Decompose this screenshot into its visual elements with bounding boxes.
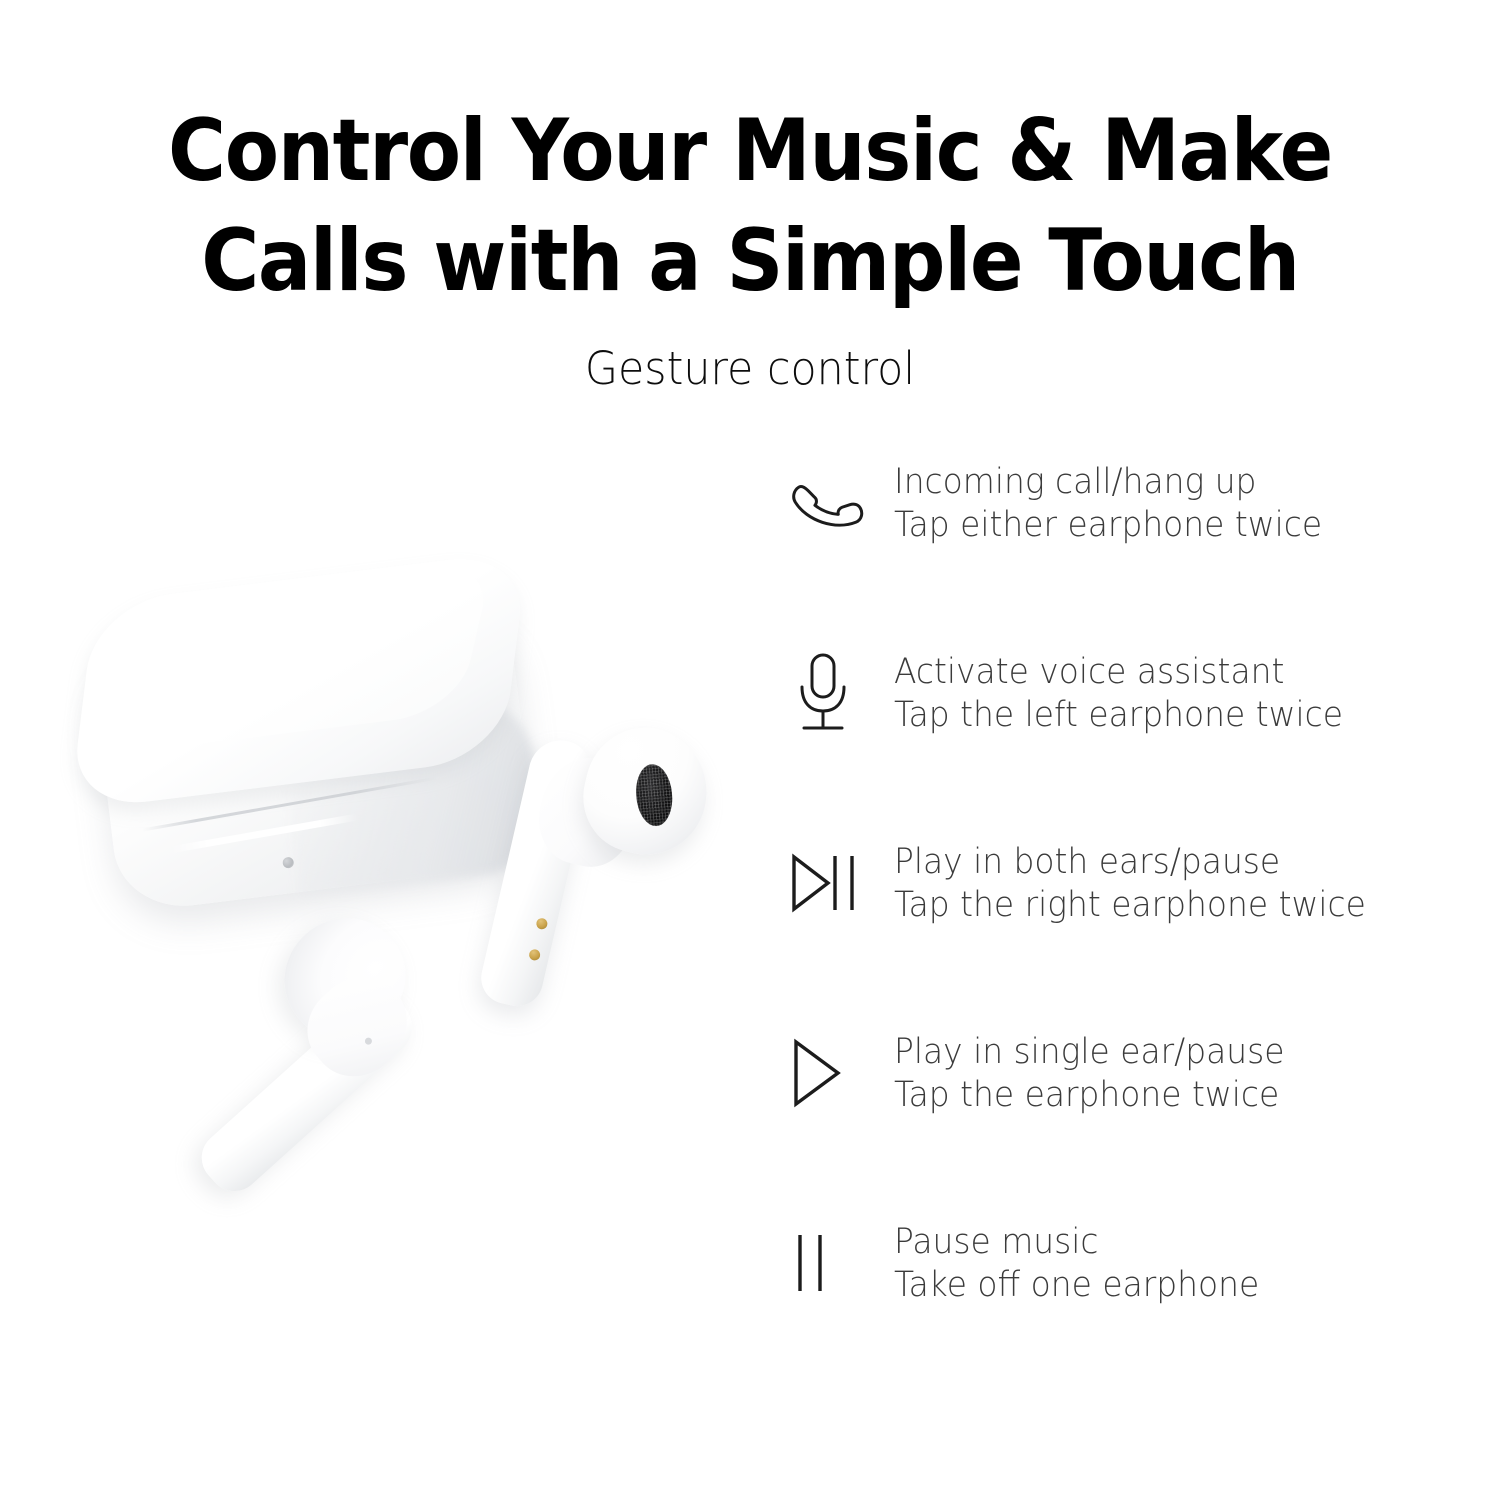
feature-title: Play in single ear/pause bbox=[894, 1031, 1285, 1074]
play-icon bbox=[782, 1025, 894, 1121]
feature-text: Play in both ears/pause Tap the right ea… bbox=[894, 835, 1366, 927]
feature-row: Activate voice assistant Tap the left ea… bbox=[782, 645, 1472, 835]
feature-title: Incoming call/hang up bbox=[894, 461, 1322, 504]
header: Control Your Music & Make Calls with a S… bbox=[0, 96, 1500, 395]
phone-handset-icon bbox=[782, 455, 894, 551]
feature-text: Incoming call/hang up Tap either earphon… bbox=[894, 455, 1322, 547]
microphone-icon bbox=[782, 645, 894, 741]
feature-text: Activate voice assistant Tap the left ea… bbox=[894, 645, 1343, 737]
feature-row: Play in both ears/pause Tap the right ea… bbox=[782, 835, 1472, 1025]
feature-title: Pause music bbox=[894, 1221, 1259, 1264]
page-title: Control Your Music & Make Calls with a S… bbox=[60, 96, 1440, 316]
play-pause-icon bbox=[782, 835, 894, 931]
feature-subtitle: Tap either earphone twice bbox=[894, 504, 1322, 547]
feature-title: Activate voice assistant bbox=[894, 651, 1343, 694]
feature-row: Incoming call/hang up Tap either earphon… bbox=[782, 455, 1472, 645]
feature-row: Pause music Take off one earphone bbox=[782, 1215, 1472, 1311]
infographic-page: Control Your Music & Make Calls with a S… bbox=[0, 0, 1500, 1500]
feature-row: Play in single ear/pause Tap the earphon… bbox=[782, 1025, 1472, 1215]
feature-subtitle: Tap the right earphone twice bbox=[894, 884, 1366, 927]
product-image bbox=[60, 545, 760, 1335]
page-subtitle: Gesture control bbox=[38, 342, 1463, 395]
feature-subtitle: Tap the left earphone twice bbox=[894, 694, 1343, 737]
pause-icon bbox=[782, 1215, 894, 1311]
feature-subtitle: Tap the earphone twice bbox=[894, 1074, 1285, 1117]
gesture-feature-list: Incoming call/hang up Tap either earphon… bbox=[782, 455, 1472, 1311]
feature-text: Play in single ear/pause Tap the earphon… bbox=[894, 1025, 1285, 1117]
feature-text: Pause music Take off one earphone bbox=[894, 1215, 1259, 1307]
feature-subtitle: Take off one earphone bbox=[894, 1264, 1259, 1307]
feature-title: Play in both ears/pause bbox=[894, 841, 1366, 884]
